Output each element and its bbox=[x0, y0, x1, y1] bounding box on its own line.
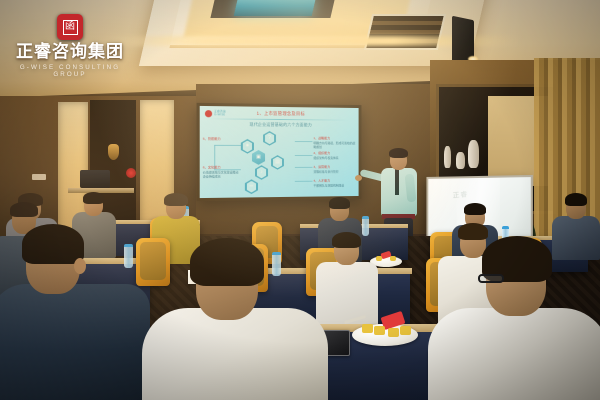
hexagon-icon: ▤ bbox=[271, 155, 284, 170]
pineapple-chunk bbox=[362, 324, 373, 333]
annotation-body: 流程标准与执行管控 bbox=[313, 169, 338, 173]
slide-annotation: 1、战略能力 明确方向与路径，形成可落地的战略规划 bbox=[313, 136, 355, 149]
hexagon-glyph: ♪ bbox=[260, 169, 263, 175]
gwise-logo-watermark: 函 正睿咨询集团 G-WISE CONSULTING GROUP bbox=[12, 14, 128, 80]
presenter-hair bbox=[389, 148, 408, 158]
attendee-hair bbox=[464, 203, 486, 215]
hexagon-glyph: ═ bbox=[250, 184, 254, 190]
attendee-hair bbox=[10, 202, 38, 217]
slide-connector bbox=[214, 145, 241, 146]
slide-annotation: 6、文化能力 价值观落地与文化建设推动企业持续成长 bbox=[203, 165, 240, 179]
slide-annotation: 2、组织能力 组织架构与权责体系 bbox=[313, 151, 355, 160]
logo-badge: 函 bbox=[57, 14, 83, 40]
annotation-body: 价值观落地与文化建设推动企业持续成长 bbox=[203, 170, 239, 179]
attendee-body bbox=[316, 262, 378, 326]
attendee-bottom-center-white bbox=[150, 238, 320, 400]
attendee-body bbox=[428, 308, 600, 400]
slide-annotation: 4、人才能力 干部梯队与激励机制建设 bbox=[313, 178, 355, 187]
slide-divider bbox=[208, 118, 349, 120]
logo-badge-glyph: 函 bbox=[63, 20, 78, 35]
av-equipment-box bbox=[80, 170, 110, 188]
hexagon-icon: ✷ bbox=[241, 139, 254, 154]
slide-annotation: 5、管控能力 bbox=[203, 137, 238, 142]
logo-english-name: G-WISE CONSULTING GROUP bbox=[12, 64, 128, 78]
pineapple-chunk bbox=[400, 326, 411, 335]
attendee-hair bbox=[329, 197, 350, 209]
presenter-hand bbox=[355, 175, 362, 181]
attendee-body bbox=[142, 308, 328, 400]
attendee-ear bbox=[74, 258, 86, 274]
attendee-front-left bbox=[0, 228, 150, 400]
attendee-hair bbox=[332, 232, 361, 248]
slide-connector bbox=[295, 141, 313, 142]
slide-connector bbox=[295, 181, 313, 182]
annotation-heading: 5、管控能力 bbox=[203, 137, 238, 142]
annotation-body: 组织架构与权责体系 bbox=[313, 156, 338, 160]
decorative-vase bbox=[444, 146, 451, 168]
niche-lamp bbox=[108, 144, 119, 160]
attendee-hair bbox=[565, 193, 587, 206]
pineapple-chunk bbox=[374, 326, 385, 335]
projection-screen-frame: 正睿咨询 G-WISE 1、上市监管理念及目标 现代企业运营基础的六个方面能力 … bbox=[197, 103, 362, 201]
attendee-hair bbox=[458, 223, 488, 240]
decorative-vase bbox=[468, 140, 479, 168]
slide-annotation: 3、运营能力 流程标准与执行管控 bbox=[313, 165, 355, 174]
seminar-room-photo: 正睿咨询 G-WISE 1、上市监管理念及目标 现代企业运营基础的六个方面能力 … bbox=[0, 0, 600, 400]
hexagon-icon: ▣ bbox=[252, 150, 265, 165]
hexagon-icon: ♪ bbox=[255, 165, 268, 180]
hexagon-glyph: ▤ bbox=[275, 159, 280, 165]
red-flower-decor bbox=[126, 168, 136, 178]
decorative-vase bbox=[456, 152, 465, 169]
side-console-table bbox=[68, 188, 134, 193]
projection-screen-surface: 正睿咨询 G-WISE 1、上市监管理念及目标 现代企业运营基础的六个方面能力 … bbox=[200, 106, 359, 198]
hexagon-glyph: ? bbox=[268, 135, 271, 141]
annotation-body: 明确方向与路径，形成可落地的战略规划 bbox=[313, 141, 355, 149]
attendee-hair bbox=[83, 192, 104, 204]
slide-connector bbox=[295, 167, 313, 168]
water-bottle bbox=[362, 216, 369, 236]
logo-chinese-name: 正睿咨询集团 bbox=[12, 44, 128, 61]
hexagon-glyph: ▣ bbox=[256, 154, 261, 160]
ceiling-projector bbox=[234, 0, 317, 16]
annotation-body: 干部梯队与激励机制建设 bbox=[313, 183, 344, 187]
hexagon-icon: ? bbox=[263, 131, 276, 146]
attendee-hair bbox=[190, 238, 264, 286]
attendee-right-white-front bbox=[434, 242, 600, 400]
eyeglasses-icon bbox=[478, 274, 504, 283]
attendee-hair bbox=[22, 224, 84, 264]
attendee-center-white bbox=[316, 236, 378, 326]
pineapple-chunk bbox=[390, 256, 396, 261]
pineapple-chunk bbox=[388, 328, 399, 337]
presenter-tie bbox=[395, 169, 399, 195]
hexagon-diagram: ✷ ? ▣ ▤ ♪ ═ bbox=[241, 131, 295, 192]
attendee-body bbox=[0, 284, 150, 400]
attendee-hair bbox=[164, 193, 188, 206]
slide-subtitle: 现代企业运营基础的六个方面能力 bbox=[200, 121, 359, 128]
slide-connector bbox=[295, 155, 313, 156]
hexagon-glyph: ✷ bbox=[245, 143, 249, 149]
wall-switch-plate bbox=[32, 174, 46, 180]
hexagon-icon: ═ bbox=[245, 179, 258, 194]
